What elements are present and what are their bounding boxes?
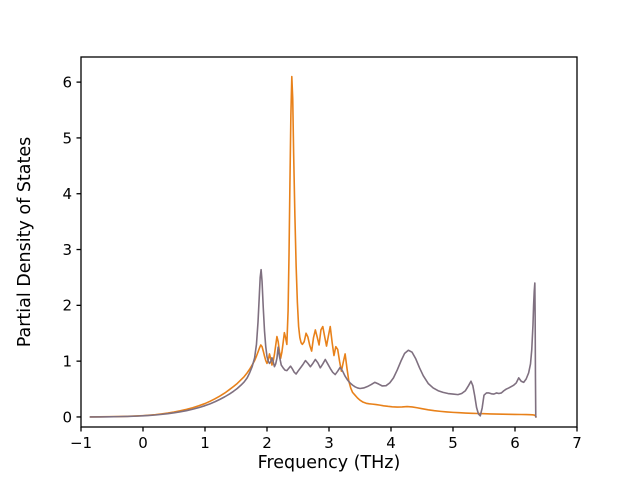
x-tick-label: 5 <box>448 434 458 452</box>
y-tick-label: 5 <box>62 129 72 147</box>
y-tick-label: 2 <box>62 297 72 315</box>
y-tick-label: 4 <box>62 185 72 203</box>
figure-canvas: −101234567 0123456 Frequency (THz) Parti… <box>0 0 640 480</box>
y-tick-label: 6 <box>62 74 72 92</box>
x-axis-label: Frequency (THz) <box>258 453 401 473</box>
x-tick-label: 4 <box>386 434 396 452</box>
x-tick-label: 1 <box>200 434 210 452</box>
x-tick-label: 3 <box>324 434 334 452</box>
x-tick-label: 2 <box>262 434 272 452</box>
y-tick-label: 3 <box>62 241 72 259</box>
x-tick-label: 0 <box>138 434 148 452</box>
x-tick-label: 7 <box>572 434 582 452</box>
y-tick-label: 1 <box>62 353 72 371</box>
x-tick-label: 6 <box>510 434 520 452</box>
x-tick-label: −1 <box>70 434 92 452</box>
figure-background <box>0 0 640 480</box>
y-axis-label: Partial Density of States <box>15 137 35 348</box>
y-tick-label: 0 <box>62 408 72 426</box>
pdos-chart: −101234567 0123456 Frequency (THz) Parti… <box>0 0 640 480</box>
